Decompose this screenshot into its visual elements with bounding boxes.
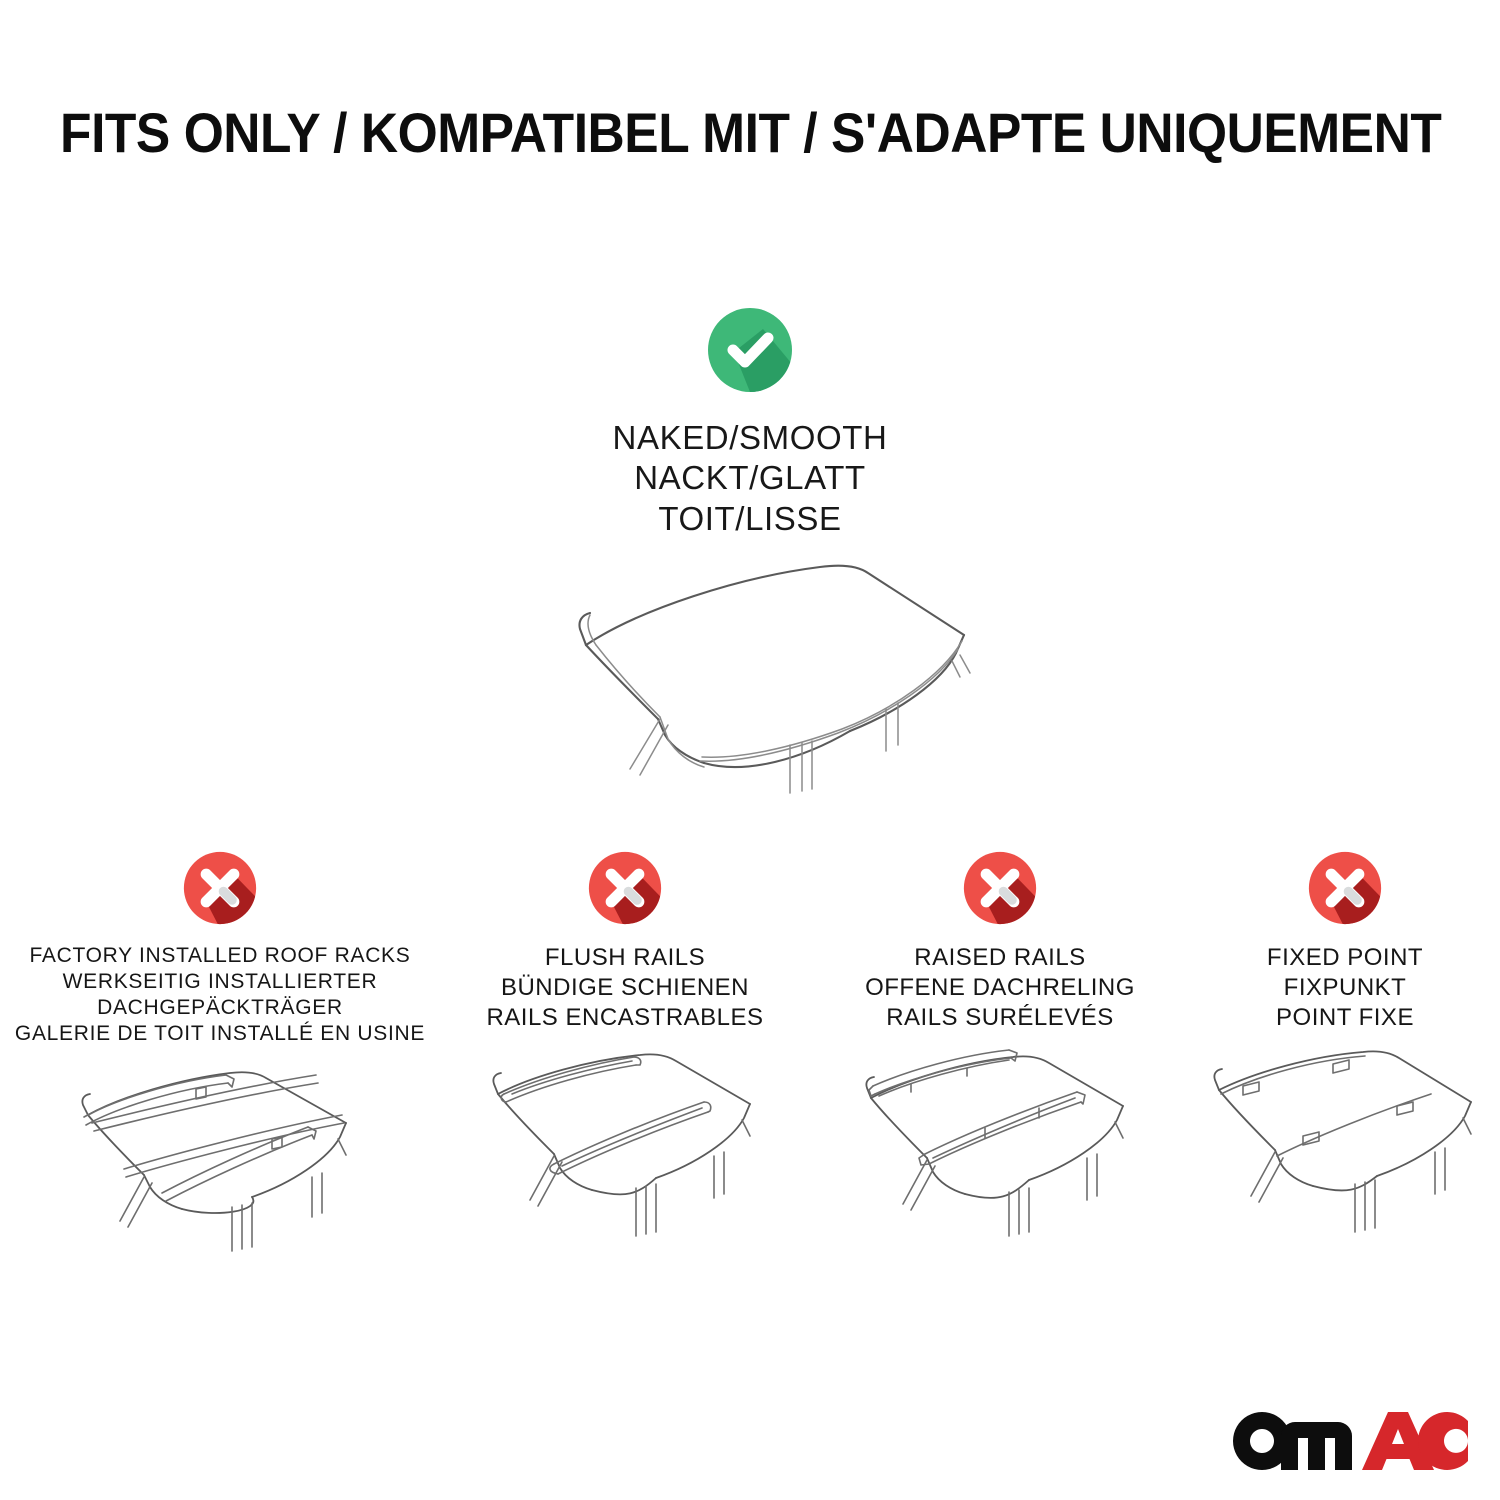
car-roof-fixed-point-illustration <box>1185 1046 1500 1256</box>
compatible-label-fr: TOIT/LISSE <box>613 499 888 539</box>
incompatible-item-fixed-point: FIXED POINT FIXPUNKT POINT FIXE <box>1190 845 1500 1256</box>
label-en: RAISED RAILS <box>865 943 1135 973</box>
label-de: OFFENE DACHRELING <box>865 973 1135 1003</box>
label-en: FACTORY INSTALLED ROOF RACKS <box>15 943 425 969</box>
compatible-section: NAKED/SMOOTH NACKT/GLATT TOIT/LISSE <box>0 300 1500 809</box>
incompatible-item-raised-rails: RAISED RAILS OFFENE DACHRELING RAILS SUR… <box>810 845 1190 1256</box>
compatible-label-de: NACKT/GLATT <box>613 458 888 498</box>
car-roof-raised-rails-illustration <box>815 1046 1185 1256</box>
incompatible-labels-flush-rails: FLUSH RAILS BÜNDIGE SCHIENEN RAILS ENCAS… <box>486 943 763 1032</box>
label-en: FLUSH RAILS <box>486 943 763 973</box>
compatible-label-en: NAKED/SMOOTH <box>613 418 888 458</box>
incompatible-item-factory-rack: FACTORY INSTALLED ROOF RACKS WERKSEITIG … <box>0 845 440 1271</box>
page-title: FITS ONLY / KOMPATIBEL MIT / S'ADAPTE UN… <box>60 104 1441 163</box>
label-fr: RAILS SURÉLEVÉS <box>865 1003 1135 1033</box>
car-roof-naked-smooth-illustration <box>490 549 1010 809</box>
logo-letter-m <box>1281 1422 1352 1470</box>
cross-circle-icon <box>582 845 668 931</box>
incompatible-labels-factory-rack: FACTORY INSTALLED ROOF RACKS WERKSEITIG … <box>15 943 425 1047</box>
incompatible-item-flush-rails: FLUSH RAILS BÜNDIGE SCHIENEN RAILS ENCAS… <box>440 845 810 1256</box>
omac-logo <box>1220 1402 1480 1482</box>
label-en: FIXED POINT <box>1267 943 1423 973</box>
label-de-2: DACHGEPÄCKTRÄGER <box>15 995 425 1021</box>
incompatible-labels-raised-rails: RAISED RAILS OFFENE DACHRELING RAILS SUR… <box>865 943 1135 1032</box>
compatible-labels: NAKED/SMOOTH NACKT/GLATT TOIT/LISSE <box>613 418 888 539</box>
cross-circle-icon <box>957 845 1043 931</box>
label-de: FIXPUNKT <box>1267 973 1423 1003</box>
label-fr: POINT FIXE <box>1267 1003 1423 1033</box>
label-fr: RAILS ENCASTRABLES <box>486 1003 763 1033</box>
cross-circle-icon <box>177 845 263 931</box>
incompatible-section: FACTORY INSTALLED ROOF RACKS WERKSEITIG … <box>0 845 1500 1271</box>
label-de-1: WERKSEITIG INSTALLIERTER <box>15 969 425 995</box>
car-roof-factory-rack-illustration <box>20 1061 420 1271</box>
car-roof-flush-rails-illustration <box>440 1046 810 1256</box>
incompatible-labels-fixed-point: FIXED POINT FIXPUNKT POINT FIXE <box>1267 943 1423 1032</box>
label-de: BÜNDIGE SCHIENEN <box>486 973 763 1003</box>
label-fr: GALERIE DE TOIT INSTALLÉ EN USINE <box>15 1021 425 1047</box>
page-title-bar: FITS ONLY / KOMPATIBEL MIT / S'ADAPTE UN… <box>0 104 1500 163</box>
cross-circle-icon <box>1302 845 1388 931</box>
check-circle-icon <box>700 300 800 400</box>
